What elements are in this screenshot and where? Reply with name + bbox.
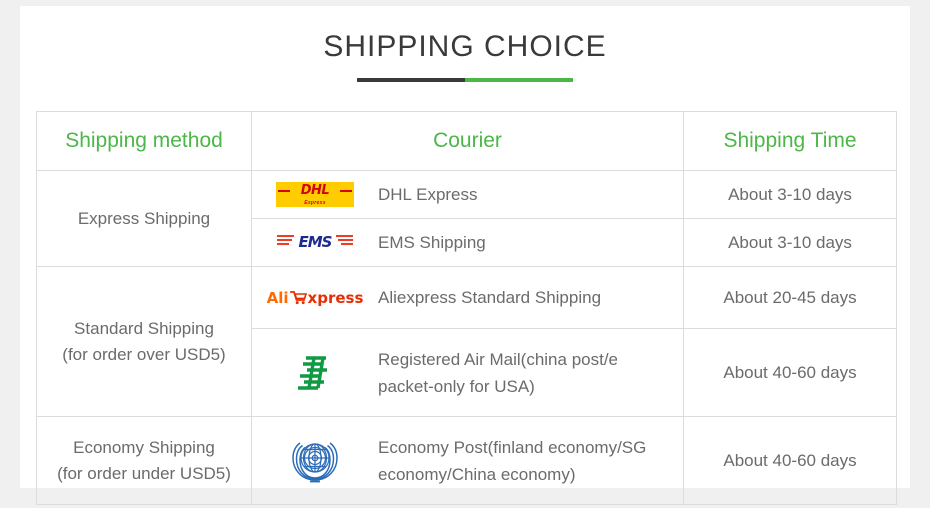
header-courier: Courier (252, 112, 684, 171)
aliexpress-logo-prefix: Ali (267, 289, 289, 307)
courier-label: Registered Air Mail(china post/e packet-… (378, 346, 683, 400)
courier-cell-china-post: Registered Air Mail(china post/e packet-… (252, 329, 684, 417)
courier-label: DHL Express (378, 181, 488, 208)
title-underline-green (465, 78, 573, 82)
method-label: Standard Shipping (37, 316, 251, 342)
courier-cell-dhl: DHL Express DHL Express (252, 171, 684, 219)
courier-cell-aliexpress: Ali xpress Aliexpress Standard Shi (252, 267, 684, 329)
method-note: (for order under USD5) (37, 461, 251, 487)
table-row: Economy Shipping (for order under USD5) (37, 417, 897, 505)
ems-logo-text: EMS (277, 233, 353, 251)
shipping-info-card: SHIPPING CHOICE Shipping method Courier … (20, 6, 910, 488)
method-cell-economy: Economy Shipping (for order under USD5) (37, 417, 252, 505)
china-post-logo (293, 353, 337, 393)
table-row: Standard Shipping (for order over USD5) … (37, 267, 897, 329)
un-post-logo (288, 436, 342, 486)
logo-box (252, 436, 378, 486)
time-cell: About 3-10 days (684, 171, 897, 219)
dhl-logo-subtext: Express (276, 200, 354, 206)
dhl-logo-text: DHL (276, 183, 354, 198)
courier-cell-economy-post: Economy Post(finland economy/SG economy/… (252, 417, 684, 505)
time-cell: About 3-10 days (684, 219, 897, 267)
table-header-row: Shipping method Courier Shipping Time (37, 112, 897, 171)
method-cell-standard: Standard Shipping (for order over USD5) (37, 267, 252, 417)
logo-box: DHL Express (252, 182, 378, 207)
aliexpress-logo-suffix: xpress (308, 289, 364, 307)
courier-label: EMS Shipping (378, 229, 496, 256)
aliexpress-logo: Ali xpress (267, 289, 364, 307)
courier-label: Economy Post(finland economy/SG economy/… (378, 434, 683, 488)
title-underline (357, 78, 573, 82)
time-cell: About 20-45 days (684, 267, 897, 329)
header-shipping-method: Shipping method (37, 112, 252, 171)
logo-box: EMS (252, 231, 378, 255)
title-underline-dark (357, 78, 465, 82)
page-title: SHIPPING CHOICE (20, 28, 910, 66)
time-cell: About 40-60 days (684, 329, 897, 417)
logo-box: Ali xpress (252, 289, 378, 307)
table-row: Express Shipping DHL Express DHL Expr (37, 171, 897, 219)
header-shipping-time: Shipping Time (684, 112, 897, 171)
method-label: Economy Shipping (37, 435, 251, 461)
title-block: SHIPPING CHOICE (20, 6, 910, 82)
method-note: (for order over USD5) (37, 342, 251, 368)
logo-box (252, 353, 378, 393)
shipping-choice-table: Shipping method Courier Shipping Time Ex… (36, 111, 897, 505)
method-cell-express: Express Shipping (37, 171, 252, 267)
courier-label: Aliexpress Standard Shipping (378, 284, 611, 311)
dhl-logo: DHL Express (276, 182, 354, 207)
time-cell: About 40-60 days (684, 417, 897, 505)
courier-cell-ems: EMS EMS Shipping (252, 219, 684, 267)
method-label: Express Shipping (37, 206, 251, 232)
ems-logo: EMS (277, 231, 353, 255)
shopping-cart-icon (290, 290, 307, 305)
